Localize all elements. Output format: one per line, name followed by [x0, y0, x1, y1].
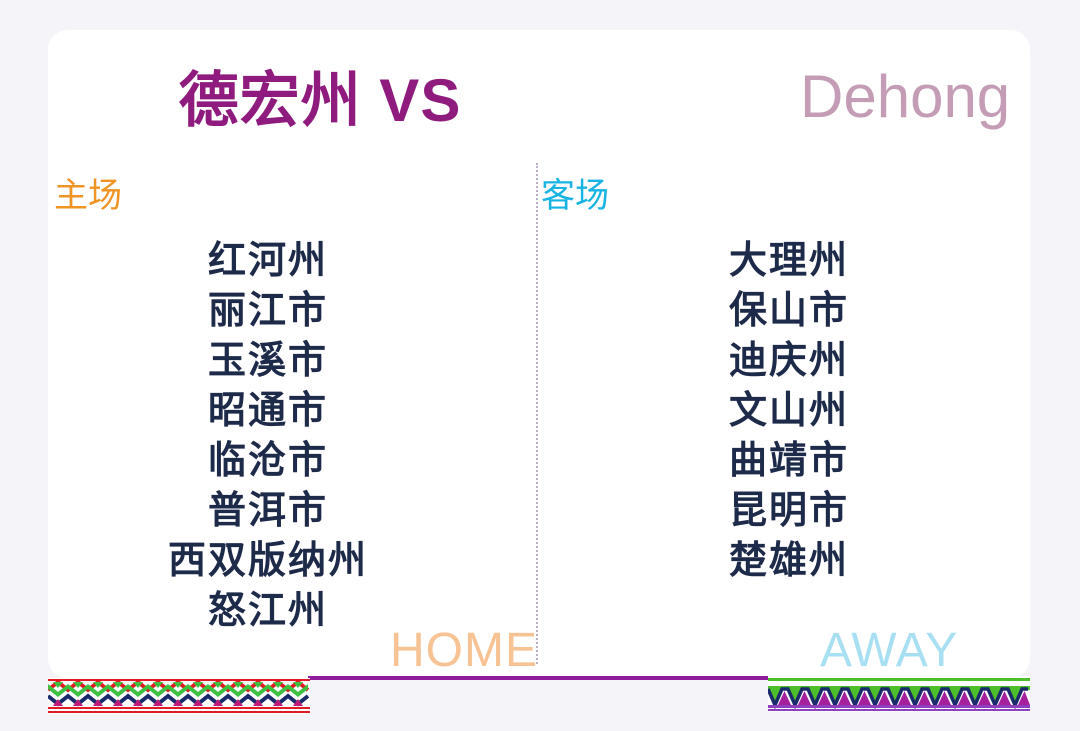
home-side-label: 主场 — [54, 168, 122, 217]
list-item: 文山州 — [544, 386, 1034, 436]
page-title: 德宏州 VS — [0, 52, 640, 139]
list-item: 昭通市 — [0, 386, 536, 436]
brand-name: Dehong — [800, 62, 1010, 131]
home-watermark: HOME — [300, 623, 538, 678]
list-item: 昆明市 — [544, 486, 1034, 536]
list-item: 楚雄州 — [544, 536, 1034, 586]
bottom-rule — [308, 676, 770, 680]
list-item: 大理州 — [544, 236, 1034, 286]
list-item: 西双版纳州 — [0, 536, 536, 586]
away-team-list: 大理州 保山市 迪庆州 文山州 曲靖市 昆明市 楚雄州 — [544, 236, 1034, 586]
list-item: 保山市 — [544, 286, 1034, 336]
center-divider — [536, 163, 538, 664]
list-item: 丽江市 — [0, 286, 536, 336]
home-team-list: 红河州 丽江市 玉溪市 昭通市 临沧市 普洱市 西双版纳州 怒江州 — [0, 236, 536, 636]
list-item: 曲靖市 — [544, 436, 1034, 486]
away-side-label: 客场 — [541, 168, 609, 217]
list-item: 玉溪市 — [0, 336, 536, 386]
list-item: 红河州 — [0, 236, 536, 286]
ethnic-pattern-left — [48, 678, 310, 714]
ethnic-pattern-right — [768, 676, 1030, 712]
list-item: 迪庆州 — [544, 336, 1034, 386]
away-watermark: AWAY — [820, 623, 958, 678]
list-item: 普洱市 — [0, 486, 536, 536]
list-item: 临沧市 — [0, 436, 536, 486]
